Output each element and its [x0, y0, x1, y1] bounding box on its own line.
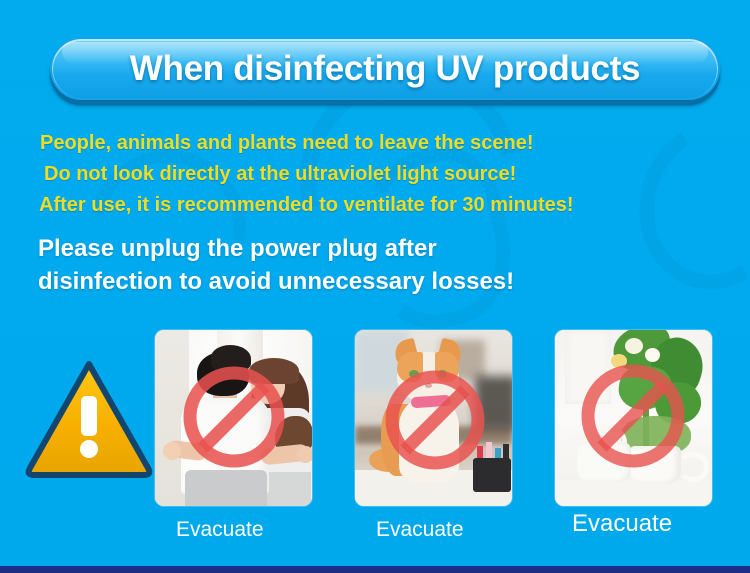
photo-couple — [155, 330, 312, 506]
plant-flower-1 — [625, 338, 643, 354]
yellow-warning-line-1: People, animals and plants need to leave… — [40, 128, 750, 159]
poster-canvas: When disinfecting UV products People, an… — [0, 0, 750, 573]
plant-pot — [629, 446, 681, 484]
pen-holder — [473, 458, 511, 492]
plant-table — [555, 480, 712, 506]
cat-eye-right — [437, 370, 447, 378]
yellow-warning-line-3: After use, it is recommended to ventilat… — [39, 190, 750, 221]
man-hair-top — [211, 345, 251, 371]
couple-scene — [155, 330, 312, 506]
yellow-warning-list: People, animals and plants need to leave… — [0, 128, 750, 221]
caption-cat: Evacuate — [376, 518, 464, 542]
cat-bg-blur-c — [475, 376, 512, 430]
caption-couple: Evacuate — [176, 518, 264, 542]
photo-plant — [555, 330, 712, 506]
cat-body — [399, 396, 459, 482]
plant-window — [565, 330, 611, 404]
plant-flower-2 — [645, 348, 660, 362]
page-title: When disinfecting UV products — [130, 49, 640, 89]
warning-triangle-icon — [24, 358, 154, 480]
white-notice-block: Please unplug the power plug after disin… — [38, 232, 598, 298]
cat-eye-left — [409, 370, 419, 378]
photo-cat — [355, 330, 512, 506]
plant-flower-3 — [611, 354, 627, 368]
hand-left — [163, 442, 181, 460]
white-notice-line-2: disinfection to avoid unnecessary losses… — [38, 265, 598, 298]
watering-can — [577, 442, 631, 482]
cat-nose — [425, 383, 432, 388]
header-banner: When disinfecting UV products — [50, 37, 720, 100]
bottom-strip — [0, 566, 750, 573]
caption-plant: Evacuate — [572, 510, 672, 538]
woman-hair-top — [249, 358, 299, 384]
yellow-warning-line-2: Do not look directly at the ultraviolet … — [44, 159, 750, 190]
plant-pot-handle — [677, 452, 709, 482]
plant-scene — [555, 330, 712, 506]
white-notice-line-1: Please unplug the power plug after — [38, 232, 598, 265]
cat-head-patch-left — [397, 352, 423, 382]
man-pants — [185, 470, 267, 506]
cat-scene — [355, 330, 512, 506]
hand-right — [297, 446, 312, 463]
